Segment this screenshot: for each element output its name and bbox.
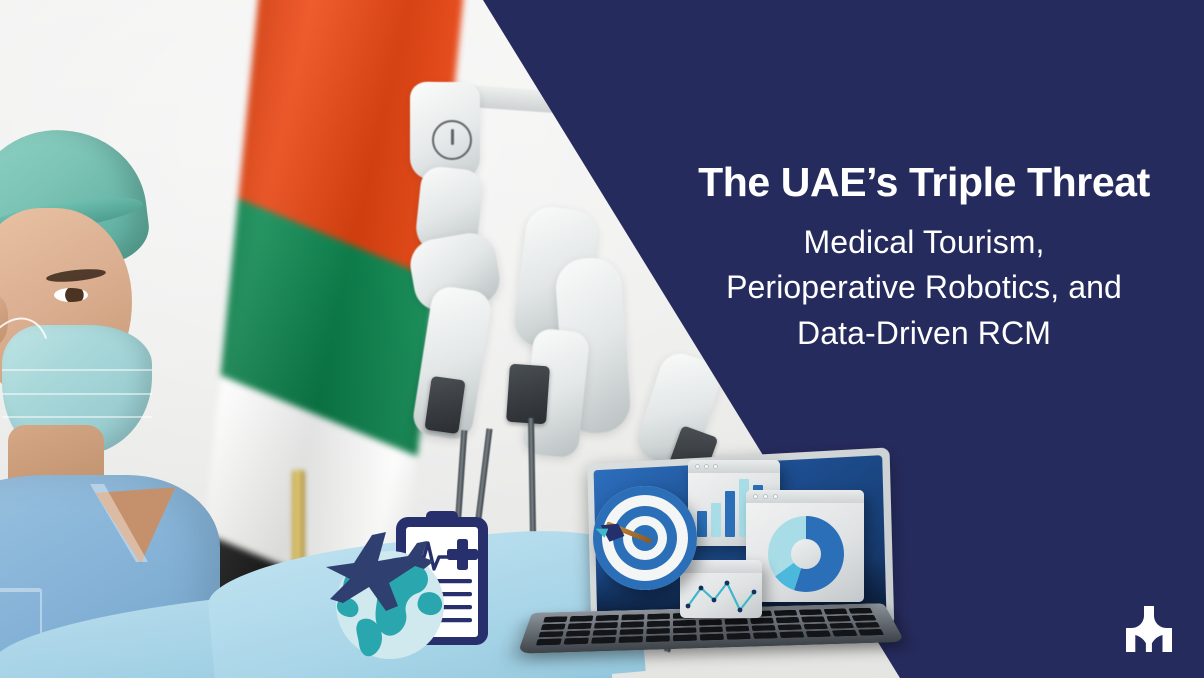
laptop-dashboard-illustration	[538, 448, 918, 678]
banner-copy: The UAE’s Triple Threat Medical Tourism,…	[648, 160, 1200, 356]
mask-pleat	[2, 416, 152, 418]
bar-2	[711, 503, 721, 537]
bar-1	[697, 511, 707, 537]
donut-chart	[768, 516, 844, 592]
page-subtitle: Medical Tourism, Perioperative Robotics,…	[648, 220, 1200, 356]
brand-logo-icon	[1122, 602, 1176, 656]
subtitle-line-1: Medical Tourism,	[648, 220, 1200, 265]
surgeon-eye	[54, 288, 88, 302]
robot-dial-icon	[432, 120, 472, 160]
line-chart	[680, 574, 762, 616]
robot-arm-head	[410, 82, 480, 180]
promo-banner: The UAE’s Triple Threat Medical Tourism,…	[0, 0, 1204, 678]
medical-tourism-icon-cluster	[318, 495, 518, 670]
subtitle-line-3: Data-Driven RCM	[648, 311, 1200, 356]
donut-chart-card	[746, 490, 864, 602]
card-titlebar	[746, 490, 864, 503]
card-titlebar	[680, 560, 762, 573]
page-title: The UAE’s Triple Threat	[648, 160, 1200, 206]
icon-cluster-svg	[318, 495, 518, 670]
subtitle-line-2: Perioperative Robotics, and	[648, 265, 1200, 310]
target-bullseye	[593, 486, 697, 590]
bar-3	[725, 491, 735, 537]
dashboard-3d-elements	[538, 448, 918, 648]
brand-logo[interactable]	[1122, 602, 1176, 656]
robot-instrument-clamp	[506, 364, 550, 425]
line-chart-card	[680, 560, 762, 618]
card-titlebar	[688, 460, 780, 473]
